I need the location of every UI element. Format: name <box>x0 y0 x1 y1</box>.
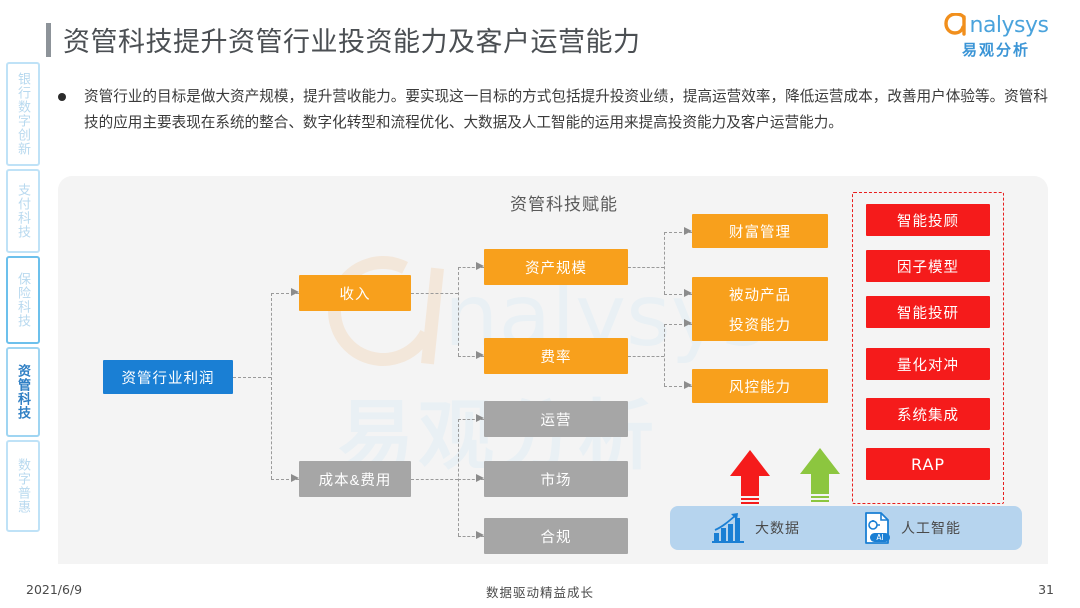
node-cost-expense[interactable]: 成本&费用 <box>299 461 411 497</box>
summary-bullet: 资管行业的目标是做大资产规模，提升营收能力。要实现这一目标的方式包括提升投资业绩… <box>58 84 1048 136</box>
capability-smart-research[interactable]: 智能投研 <box>866 296 990 328</box>
watermark-a-icon <box>314 242 453 381</box>
node-label: 智能投顾 <box>897 210 959 231</box>
diagram-title: 资管科技赋能 <box>510 190 618 215</box>
capability-quant-hedging[interactable]: 量化对冲 <box>866 348 990 380</box>
capability-factor-model[interactable]: 因子模型 <box>866 250 990 282</box>
node-risk-control-capability[interactable]: 风控能力 <box>692 369 828 403</box>
connector-cost-out <box>411 479 458 480</box>
capability-smart-advisory[interactable]: 智能投顾 <box>866 204 990 236</box>
red-up-arrow-icon <box>730 450 770 508</box>
diagram-card: nalysys 易观分析 资管科技赋能 <box>58 176 1048 564</box>
node-label: 运营 <box>541 409 572 430</box>
sidebar-item-label: 银行数字创新 <box>15 72 31 156</box>
bullet-dot-icon <box>58 93 66 101</box>
connector-cost-split <box>458 419 459 536</box>
arrowhead-fee-rate <box>476 351 484 359</box>
footer-page-number: 31 <box>1038 582 1054 597</box>
capability-system-integration[interactable]: 系统集成 <box>866 398 990 430</box>
node-label: 合规 <box>541 526 572 547</box>
tech-label: 大数据 <box>755 518 800 538</box>
node-market[interactable]: 市场 <box>484 461 628 497</box>
logo-wordmark-row: nalysys <box>930 12 1062 38</box>
node-income[interactable]: 收入 <box>299 275 411 311</box>
node-label: 财富管理 <box>729 221 791 242</box>
tech-big-data[interactable]: 大数据 <box>712 513 800 543</box>
node-invest-capability[interactable]: 投资能力 <box>692 307 828 341</box>
node-label: 投资能力 <box>729 314 791 335</box>
tech-artificial-intelligence[interactable]: AI 人工智能 <box>862 512 961 544</box>
node-label: 量化对冲 <box>897 354 959 375</box>
sidebar-item-bank-digital-innovation[interactable]: 银行数字创新 <box>6 62 40 166</box>
tech-label: 人工智能 <box>901 518 961 538</box>
sidebar-item-label: 资管科技 <box>15 364 31 420</box>
arrowhead-cost <box>291 474 299 482</box>
arrowhead-risk-control <box>684 381 692 389</box>
arrowhead-asset-scale <box>476 262 484 270</box>
node-label: 成本&费用 <box>319 469 392 490</box>
connector-trunk-vertical <box>271 293 272 479</box>
sidebar-item-label: 支付科技 <box>15 183 31 239</box>
sidebar-item-digital-inclusive-finance[interactable]: 数字普惠 <box>6 440 40 532</box>
summary-bullet-text: 资管行业的目标是做大资产规模，提升营收能力。要实现这一目标的方式包括提升投资业绩… <box>84 84 1048 136</box>
sidebar-rail: 银行数字创新 支付科技 保险科技 资管科技 数字普惠 <box>6 62 40 562</box>
logo-a-mark-icon <box>944 13 970 37</box>
connector-fee-out <box>628 356 664 357</box>
ai-document-icon: AI <box>862 512 892 544</box>
page-title: 资管科技提升资管行业投资能力及客户运营能力 <box>46 20 641 59</box>
node-label: 因子模型 <box>897 256 959 277</box>
sidebar-item-insurance-tech[interactable]: 保险科技 <box>6 256 40 344</box>
node-wealth-management[interactable]: 财富管理 <box>692 214 828 248</box>
footer-tagline: 数据驱动精益成长 <box>0 582 1080 601</box>
svg-text:AI: AI <box>876 533 883 542</box>
arrowhead-income <box>291 288 299 296</box>
node-label: 市场 <box>541 469 572 490</box>
arrowhead-compliance <box>476 531 484 539</box>
green-up-arrow-icon <box>800 448 840 506</box>
arrowhead-operation <box>476 414 484 422</box>
arrowhead-market <box>476 474 484 482</box>
connector-asset-split <box>664 232 665 294</box>
node-label: 收入 <box>340 283 371 304</box>
node-passive-product[interactable]: 被动产品 <box>692 277 828 311</box>
node-label: 被动产品 <box>729 284 791 305</box>
sidebar-item-label: 数字普惠 <box>15 458 31 514</box>
arrowhead-wealth-mgmt <box>684 227 692 235</box>
sidebar-item-payment-tech[interactable]: 支付科技 <box>6 169 40 253</box>
page-title-text: 资管科技提升资管行业投资能力及客户运营能力 <box>63 20 641 59</box>
bar-chart-growth-icon <box>712 513 746 543</box>
sidebar-item-asset-management-tech[interactable]: 资管科技 <box>6 347 40 437</box>
analysys-logo: nalysys 易观分析 <box>930 12 1062 60</box>
slide-page: 银行数字创新 支付科技 保险科技 资管科技 数字普惠 资管科技提升资管行业投资能… <box>0 0 1080 608</box>
logo-chinese-text: 易观分析 <box>930 39 1062 60</box>
node-operation[interactable]: 运营 <box>484 401 628 437</box>
node-label: 风控能力 <box>729 376 791 397</box>
connector-fee-split <box>664 324 665 386</box>
watermark-a-tail-icon <box>421 268 444 365</box>
node-compliance[interactable]: 合规 <box>484 518 628 554</box>
sidebar-item-label: 保险科技 <box>15 272 31 328</box>
enabling-tech-panel: 大数据 AI 人工智能 <box>670 506 1022 550</box>
logo-wordmark-text: nalysys <box>970 13 1049 38</box>
connector-root-to-trunk <box>233 377 271 378</box>
node-label: RAP <box>911 455 945 474</box>
arrowhead-invest-capability <box>684 319 692 327</box>
node-industry-profit[interactable]: 资管行业利润 <box>103 360 233 394</box>
title-accent-bar <box>46 23 51 57</box>
connector-income-split <box>458 267 459 356</box>
node-asset-scale[interactable]: 资产规模 <box>484 249 628 285</box>
connector-asset-out <box>628 267 664 268</box>
node-label: 资产规模 <box>525 257 587 278</box>
node-label: 资管行业利润 <box>122 367 215 388</box>
node-label: 费率 <box>541 346 572 367</box>
capability-rap[interactable]: RAP <box>866 448 990 480</box>
connector-income-out <box>411 293 458 294</box>
node-label: 系统集成 <box>897 404 959 425</box>
node-fee-rate[interactable]: 费率 <box>484 338 628 374</box>
footer: 2021/6/9 数据驱动精益成长 31 <box>0 582 1080 602</box>
arrowhead-passive-product <box>684 289 692 297</box>
node-label: 智能投研 <box>897 302 959 323</box>
